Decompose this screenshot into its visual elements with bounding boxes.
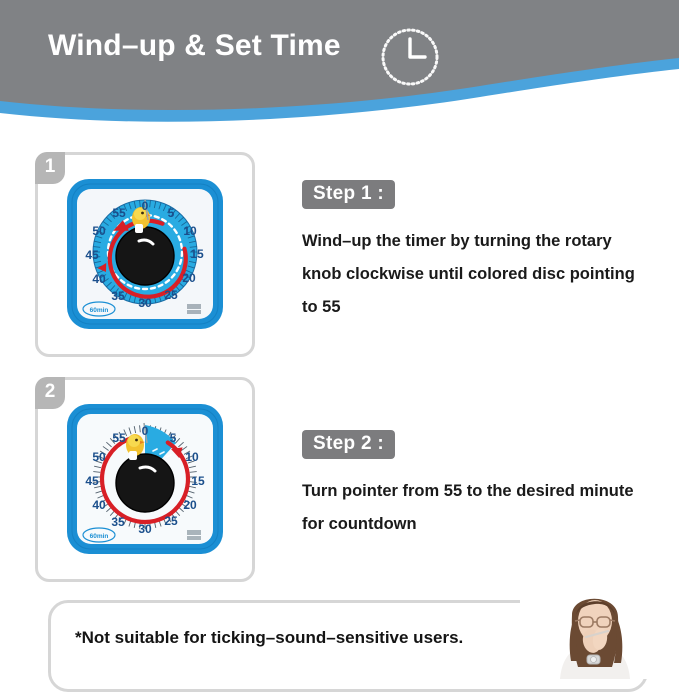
svg-text:15: 15 bbox=[191, 474, 205, 488]
page-header: Wind–up & Set Time bbox=[0, 0, 679, 125]
step-2-illustration-card: 2 bbox=[35, 377, 255, 582]
svg-text:35: 35 bbox=[111, 515, 125, 529]
timer-number-10: 10 bbox=[183, 224, 197, 238]
svg-text:45: 45 bbox=[85, 474, 99, 488]
svg-text:50: 50 bbox=[92, 450, 106, 464]
brand-logo-mark bbox=[187, 530, 201, 540]
svg-text:5: 5 bbox=[170, 431, 177, 445]
woman-with-glasses-photo bbox=[520, 579, 670, 679]
page-title: Wind–up & Set Time bbox=[48, 29, 341, 63]
svg-text:0: 0 bbox=[142, 424, 149, 438]
svg-text:60min: 60min bbox=[90, 533, 109, 540]
step-1-text-block: Step 1 : Wind–up the timer by turning th… bbox=[302, 180, 652, 324]
timer-number-5: 5 bbox=[168, 206, 175, 220]
timer-number-30: 30 bbox=[138, 296, 152, 310]
svg-text:25: 25 bbox=[164, 514, 178, 528]
timer-number-50: 50 bbox=[92, 224, 106, 238]
timer-number-15: 15 bbox=[190, 247, 204, 261]
timer-number-45: 45 bbox=[85, 248, 99, 262]
svg-text:55: 55 bbox=[112, 431, 126, 445]
step-2-tag: Step 2 : bbox=[302, 430, 395, 459]
step-1-tag: Step 1 : bbox=[302, 180, 395, 209]
timer-number-55: 55 bbox=[112, 206, 126, 220]
footnote-text: *Not suitable for ticking–sound–sensitiv… bbox=[75, 628, 463, 648]
timer-number-40: 40 bbox=[92, 272, 106, 286]
svg-text:30: 30 bbox=[138, 522, 152, 536]
step-2-text-block: Step 2 : Turn pointer from 55 to the des… bbox=[302, 430, 652, 541]
timer-number-25: 25 bbox=[164, 288, 178, 302]
step-1-illustration-card: 1 bbox=[35, 152, 255, 357]
svg-text:20: 20 bbox=[183, 498, 197, 512]
timer-number-20: 20 bbox=[182, 271, 196, 285]
svg-text:10: 10 bbox=[185, 450, 199, 464]
timer-number-0: 0 bbox=[142, 199, 149, 213]
timer-illustration-step-2: 0 5 10 15 20 25 30 35 40 45 50 55 60min bbox=[61, 399, 229, 561]
step-1-description: Wind–up the timer by turning the rotary … bbox=[302, 225, 652, 324]
step-2-description: Turn pointer from 55 to the desired minu… bbox=[302, 475, 652, 541]
timer-number-35: 35 bbox=[111, 289, 125, 303]
timer-illustration-step-1: 0 5 10 15 20 25 30 35 40 45 50 55 60min bbox=[61, 174, 229, 336]
clock-icon bbox=[378, 25, 442, 89]
svg-text:60min: 60min bbox=[90, 307, 109, 314]
brand-logo-mark bbox=[187, 304, 201, 314]
svg-text:40: 40 bbox=[92, 498, 106, 512]
